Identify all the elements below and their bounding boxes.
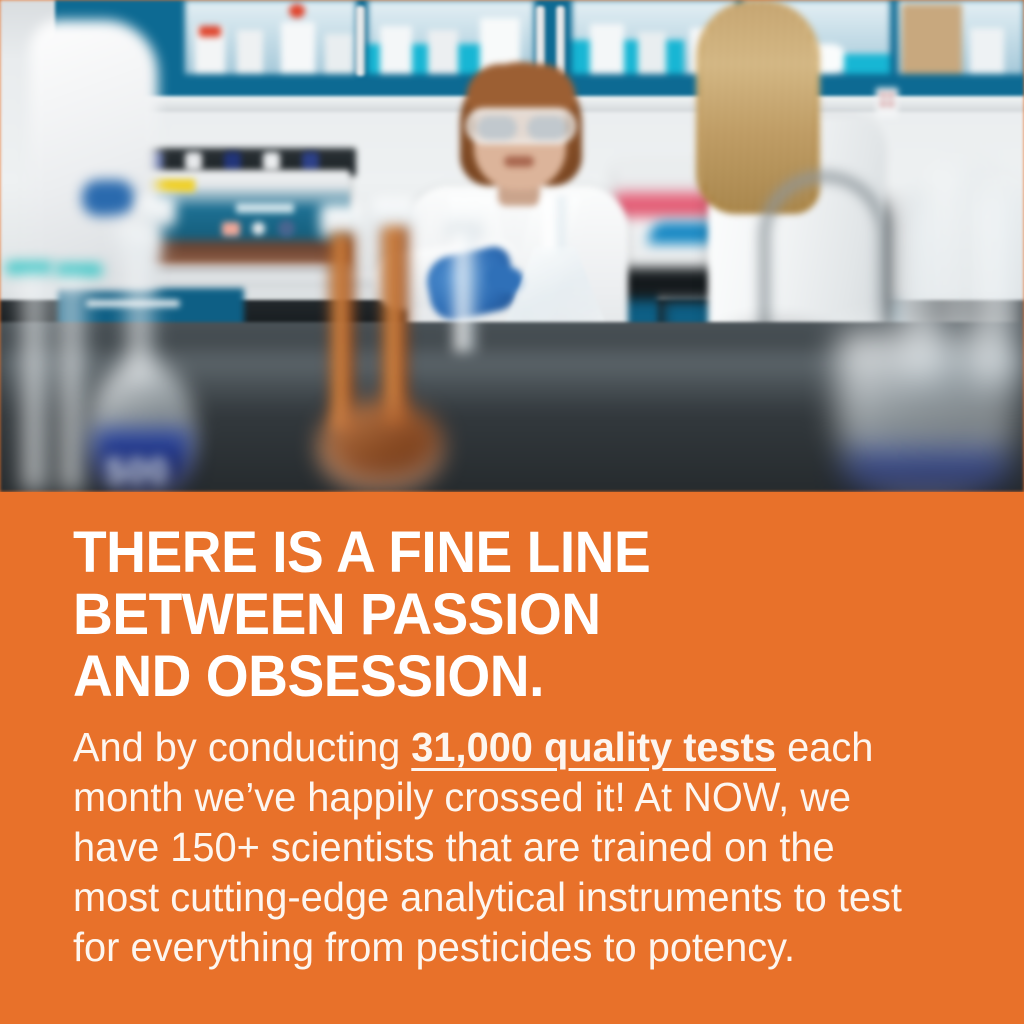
glass-vessel-liquid [846,452,1006,492]
page-title: THERE IS A FINE LINE BETWEEN PASSION AND… [73,522,928,708]
amber-flask-body [318,400,444,492]
body-text-before: And by conducting [73,724,411,770]
volumetric-flask-neck [452,232,478,352]
burette-tube [22,274,50,492]
burette-stopcock [6,262,52,274]
amber-flask-neck [380,226,410,426]
laboratory-photo: 500 [0,0,1024,492]
flask-volume-label: 500 [106,450,169,492]
burette-tube [60,276,86,492]
glass-vessel-neck [976,190,1014,380]
volumetric-flask-neck [128,250,154,376]
amber-flask-neck [328,232,356,432]
burette-stopcock [56,264,102,276]
body-paragraph: And by conducting 31,000 quality tests e… [73,722,927,972]
flask-stopper [140,196,176,226]
orange-text-panel: THERE IS A FINE LINE BETWEEN PASSION AND… [0,492,1024,1024]
social-media-graphic: 500 THERE IS A FINE LINE BETWEEN PASSION… [0,0,1024,1024]
foreground-glassware-group: 500 [0,0,1024,492]
emphasis-quality-tests: 31,000 quality tests [411,724,776,770]
